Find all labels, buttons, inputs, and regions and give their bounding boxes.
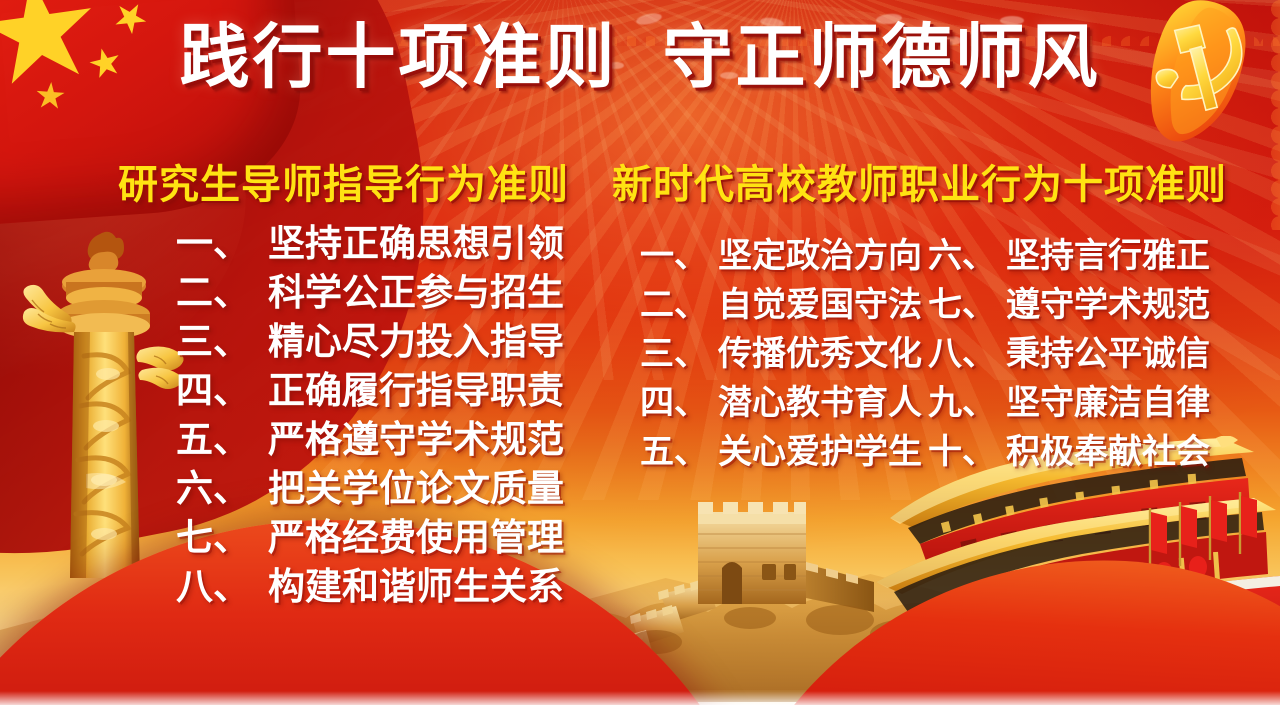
list-item-label: 传播优秀文化 [718, 334, 922, 374]
graduate-advisor-rule-list: 一、坚持正确思想引领 二、科学公正参与招生 三、精心尽力投入指导 四、正确履行指… [176, 222, 564, 614]
list-item-number: 三、 [176, 320, 268, 363]
list-item-label: 科学公正参与招生 [268, 271, 564, 314]
teacher-code-rule-list-b: 六、坚持言行雅正 七、遵守学术规范 八、秉持公平诚信 九、坚守廉洁自律 十、积极… [928, 236, 1210, 481]
list-item-number: 四、 [176, 369, 268, 412]
list-item-label: 坚守廉洁自律 [1006, 383, 1210, 423]
list-item: 七、严格经费使用管理 [176, 516, 564, 559]
list-item-label: 秉持公平诚信 [1006, 334, 1210, 374]
propaganda-poster: 践行十项准则 守正师德师风 研究生导师指导行为准则 新时代高校教师职业行为十项准… [0, 0, 1280, 720]
list-item: 三、传播优秀文化 [640, 334, 922, 374]
list-item-number: 二、 [176, 271, 268, 314]
list-item-number: 六、 [176, 467, 268, 510]
list-item-number: 九、 [928, 383, 1006, 423]
list-item-number: 五、 [640, 432, 718, 472]
left-column-heading: 研究生导师指导行为准则 [118, 152, 569, 210]
list-item-label: 积极奉献社会 [1006, 432, 1210, 472]
list-item: 四、潜心教书育人 [640, 383, 922, 423]
list-item: 二、自觉爱国守法 [640, 285, 922, 325]
list-item: 一、坚定政治方向 [640, 236, 922, 276]
list-item: 六、坚持言行雅正 [928, 236, 1210, 276]
list-item-label: 关心爱护学生 [718, 432, 922, 472]
list-item-number: 一、 [640, 236, 718, 276]
list-item-label: 严格经费使用管理 [268, 516, 564, 559]
list-item-number: 七、 [928, 285, 1006, 325]
list-item-label: 自觉爱国守法 [718, 285, 922, 325]
list-item: 十、积极奉献社会 [928, 432, 1210, 472]
list-item: 二、科学公正参与招生 [176, 271, 564, 314]
list-item-number: 六、 [928, 236, 1006, 276]
list-item-label: 把关学位论文质量 [268, 467, 564, 510]
list-item-label: 坚持言行雅正 [1006, 236, 1210, 276]
list-item-number: 三、 [640, 334, 718, 374]
list-item-label: 坚定政治方向 [718, 236, 922, 276]
list-item: 五、严格遵守学术规范 [176, 418, 564, 461]
list-item-label: 严格遵守学术规范 [268, 418, 564, 461]
list-item-number: 一、 [176, 222, 268, 265]
list-item: 七、遵守学术规范 [928, 285, 1210, 325]
teacher-code-rule-list-a: 一、坚定政治方向 二、自觉爱国守法 三、传播优秀文化 四、潜心教书育人 五、关心… [640, 236, 922, 481]
list-item: 六、把关学位论文质量 [176, 467, 564, 510]
list-item-label: 遵守学术规范 [1006, 285, 1210, 325]
list-item-label: 坚持正确思想引领 [268, 222, 564, 265]
list-item: 九、坚守廉洁自律 [928, 383, 1210, 423]
list-item: 三、精心尽力投入指导 [176, 320, 564, 363]
list-item: 八、构建和谐师生关系 [176, 565, 564, 608]
list-item-number: 八、 [928, 334, 1006, 374]
list-item-label: 构建和谐师生关系 [268, 565, 564, 608]
list-item: 一、坚持正确思想引领 [176, 222, 564, 265]
list-item-label: 精心尽力投入指导 [268, 320, 564, 363]
list-item-label: 潜心教书育人 [718, 383, 922, 423]
list-item-number: 五、 [176, 418, 268, 461]
right-column-heading: 新时代高校教师职业行为十项准则 [612, 152, 1227, 210]
list-item-number: 七、 [176, 516, 268, 559]
list-item: 五、关心爱护学生 [640, 432, 922, 472]
list-item-number: 四、 [640, 383, 718, 423]
list-item-number: 八、 [176, 565, 268, 608]
list-item-number: 十、 [928, 432, 1006, 472]
list-item: 四、正确履行指导职责 [176, 369, 564, 412]
list-item-number: 二、 [640, 285, 718, 325]
list-item: 八、秉持公平诚信 [928, 334, 1210, 374]
list-item-label: 正确履行指导职责 [268, 369, 564, 412]
page-title: 践行十项准则 守正师德师风 [0, 22, 1280, 92]
